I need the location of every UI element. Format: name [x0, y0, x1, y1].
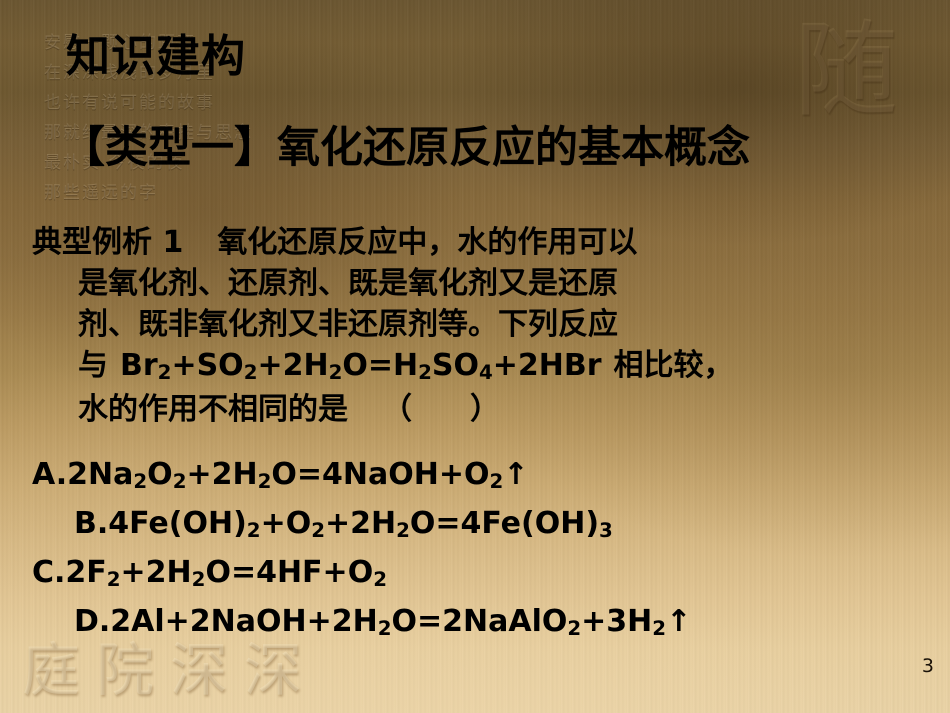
opt-part: B.4Fe(OH) — [74, 506, 247, 541]
options-list: A.2Na2O2+2H2O=4NaOH+O2↑ B.4Fe(OH)2+O2+2H… — [32, 452, 932, 648]
opt-subscript: 2 — [396, 519, 410, 542]
opt-part: O=2NaAlO — [392, 604, 568, 639]
question-line-4: 与Br2+SO2+2H2O=H2SO4+2HBr相比较， — [32, 345, 922, 389]
question-line-3: 剂、既非氧化剂又非还原剂等。下列反应 — [32, 304, 922, 345]
opt-part: +O — [261, 506, 312, 541]
opt-subscript: 2 — [567, 617, 581, 640]
question-line-5-text: 水的作用不相同的是 — [78, 392, 348, 427]
opt-part: +3H — [581, 604, 652, 639]
question-line-4-suffix: 相比较， — [614, 348, 734, 383]
eq-subscript: 2 — [418, 361, 432, 384]
reference-equation: Br2+SO2+2H2O=H2SO4+2HBr — [120, 348, 602, 383]
opt-part: +2H — [325, 506, 396, 541]
opt-subscript: 2 — [489, 470, 503, 493]
question-line-1-text: 氧化还原反应中，水的作用可以 — [217, 225, 637, 260]
opt-part: O=4NaOH+O — [271, 457, 489, 492]
eq-part: +2H — [257, 348, 328, 383]
question-line-5: 水的作用不相同的是（） — [32, 389, 922, 430]
eq-part: +2HBr — [493, 348, 602, 383]
question-label: 典型例析 1 — [32, 225, 183, 260]
opt-part: A.2Na — [32, 457, 133, 492]
slide-title: 知识建构 — [66, 30, 246, 84]
opt-subscript: 2 — [192, 568, 206, 591]
opt-subscript: 2 — [258, 470, 272, 493]
eq-subscript: 2 — [329, 361, 343, 384]
eq-subscript: 2 — [244, 361, 258, 384]
answer-blank-open-paren: （ — [382, 392, 412, 427]
option-b[interactable]: B.4Fe(OH)2+O2+2H2O=4Fe(OH)3 — [32, 501, 932, 550]
option-a[interactable]: A.2Na2O2+2H2O=4NaOH+O2↑ — [32, 452, 932, 501]
eq-part: +SO — [171, 348, 243, 383]
question-line-1: 典型例析 1氧化还原反应中，水的作用可以 — [32, 222, 922, 263]
opt-part: ↑ — [503, 457, 528, 492]
eq-subscript: 2 — [158, 361, 172, 384]
opt-subscript: 2 — [373, 568, 387, 591]
opt-part: O=4Fe(OH) — [410, 506, 599, 541]
eq-part: Br — [120, 348, 158, 383]
option-c[interactable]: C.2F2+2H2O=4HF+O2 — [32, 550, 932, 599]
page-number: 3 — [922, 655, 934, 677]
opt-subscript: 2 — [107, 568, 121, 591]
opt-subscript: 2 — [378, 617, 392, 640]
opt-part: O — [147, 457, 173, 492]
opt-subscript: 2 — [173, 470, 187, 493]
opt-part: O=4HF+O — [205, 555, 373, 590]
option-d[interactable]: D.2Al+2NaOH+2H2O=2NaAlO2+3H2↑ — [32, 599, 932, 648]
opt-subscript: 2 — [311, 519, 325, 542]
opt-subscript: 2 — [247, 519, 261, 542]
opt-part: +2H — [186, 457, 257, 492]
opt-part: +2H — [121, 555, 192, 590]
slide-content: 知识建构 【类型一】氧化还原反应的基本概念 典型例析 1氧化还原反应中，水的作用… — [0, 0, 950, 713]
eq-subscript: 4 — [479, 361, 493, 384]
eq-part: SO — [432, 348, 479, 383]
presentation-slide: 安慰一颗心的距离 在深深浅浅的岁月里 也许有说可能的故事 那就给最深的牵挂与思念… — [0, 0, 950, 713]
answer-blank-close-paren: ） — [470, 392, 500, 427]
opt-part: D.2Al+2NaOH+2H — [74, 604, 378, 639]
question-block: 典型例析 1氧化还原反应中，水的作用可以 是氧化剂、还原剂、既是氧化剂又是还原 … — [32, 222, 922, 430]
opt-subscript: 2 — [652, 617, 666, 640]
opt-part: ↑ — [666, 604, 691, 639]
opt-part: C.2F — [32, 555, 107, 590]
slide-subtitle: 【类型一】氧化还原反应的基本概念 — [62, 121, 750, 175]
question-line-4-prefix: 与 — [78, 348, 108, 383]
opt-subscript: 3 — [599, 519, 613, 542]
opt-subscript: 2 — [133, 470, 147, 493]
question-line-2: 是氧化剂、还原剂、既是氧化剂又是还原 — [32, 263, 922, 304]
eq-part: O=H — [342, 348, 418, 383]
